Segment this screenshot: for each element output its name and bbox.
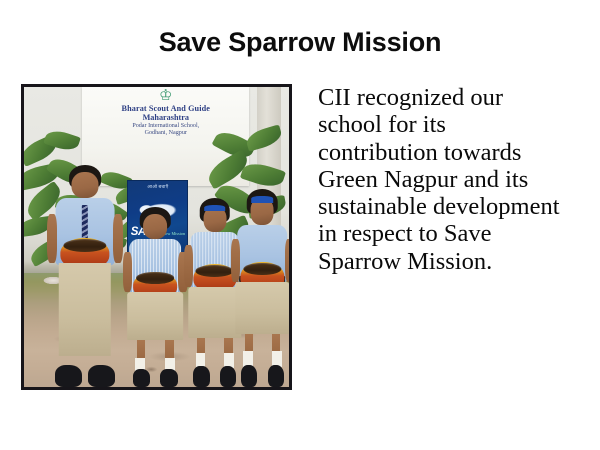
child-girl-1 xyxy=(122,207,188,387)
signboard-line1: Bharat Scout And Guide xyxy=(82,104,249,113)
scout-emblem-icon: ♔ xyxy=(82,89,249,104)
signboard-line2: Maharashtra xyxy=(82,113,249,123)
child-boy-1 xyxy=(45,165,125,387)
body-paragraph: CII recognized our school for its contri… xyxy=(318,84,570,275)
photo-frame: ♔ Bharat Scout And Guide Maharashtra Pod… xyxy=(21,84,292,390)
page-title: Save Sparrow Mission xyxy=(0,27,600,58)
child-girl-3 xyxy=(231,189,292,387)
banner-hindi-text: आओ बचाएँ xyxy=(128,184,187,189)
